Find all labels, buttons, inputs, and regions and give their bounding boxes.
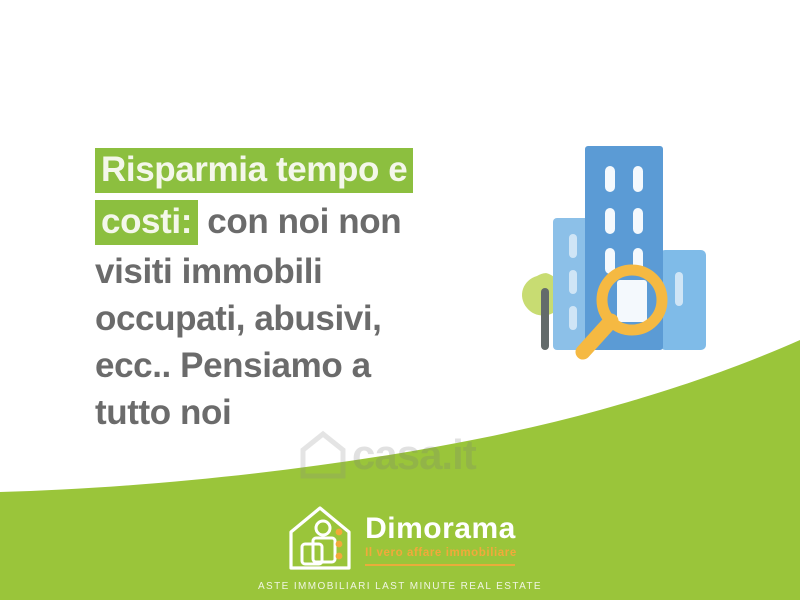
brand-name: Dimorama xyxy=(365,514,516,544)
headline-line-4: occupati, abusivi, xyxy=(95,295,485,342)
promo-banner: Risparmia tempo e costi: con noi non vis… xyxy=(0,0,800,600)
headline-block: Risparmia tempo e costi: con noi non vis… xyxy=(95,146,485,436)
headline-highlight-1: Risparmia tempo e xyxy=(95,148,413,193)
casa-it-watermark: casa.it xyxy=(300,420,540,490)
headline-line-5: ecc.. Pensiamo a xyxy=(95,342,485,389)
brand-tagline: Il vero affare immobiliare xyxy=(365,548,517,560)
logo-row: Dimorama Il vero affare immobiliare xyxy=(283,502,517,574)
headline-line-2-rest: con noi non xyxy=(198,202,401,241)
headline-line-3: visiti immobili xyxy=(95,248,485,295)
logo-underline-rule xyxy=(365,564,515,566)
headline-highlight-2: costi: xyxy=(95,200,198,245)
dimorama-house-icon xyxy=(283,502,357,574)
logo-wordmark: Dimorama Il vero affare immobiliare xyxy=(365,514,517,567)
headline-line-2: costi: con noi non xyxy=(95,198,485,245)
brand-sub-tagline: ASTE IMMOBILIARI LAST MINUTE REAL ESTATE xyxy=(258,581,542,592)
house-outline-icon xyxy=(300,430,346,480)
headline-line-1: Risparmia tempo e xyxy=(95,146,485,193)
dimorama-footer-logo: Dimorama Il vero affare immobiliare ASTE… xyxy=(0,502,800,592)
watermark-text: casa.it xyxy=(352,434,476,476)
city-buildings-search-illustration xyxy=(505,128,735,383)
